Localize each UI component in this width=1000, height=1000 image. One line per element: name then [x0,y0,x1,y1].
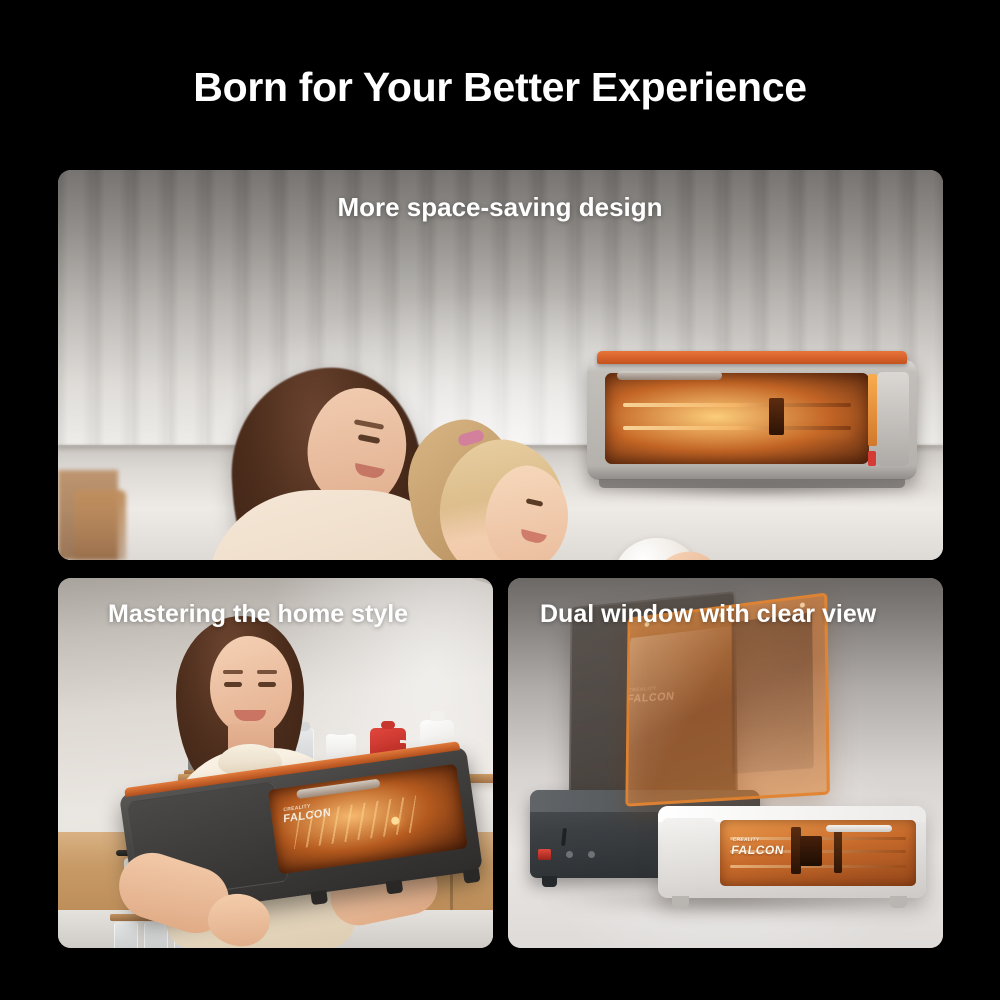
marketing-page: Born for Your Better Experience [0,0,1000,1000]
brand-prefix: CREALITY [732,835,786,845]
wooden-chair [74,490,126,560]
feature-panel-dual-window[interactable]: CREALITY FALCON [508,578,943,948]
kitchen-scene-baking [58,170,943,560]
kitchen-scene-carrying: CREALITY FALCON [58,578,493,948]
machine-handle [826,825,893,832]
machine-side-panel [877,372,909,466]
machine-side-panel [662,818,716,888]
lid-reflection [732,613,814,774]
caption-space-saving: More space-saving design [0,192,1000,223]
woman-eyebrow [223,670,243,674]
feature-panel-home-style[interactable]: CREALITY FALCON [58,578,493,948]
machine-foot [386,879,404,894]
laser-engraver-white [587,360,917,480]
drinking-glass [114,922,138,948]
feature-panel-space-saving[interactable] [58,170,943,560]
machine-foot [310,890,328,905]
gantry-post [791,827,801,875]
machine-knob [588,851,595,858]
laser-engraver-white: CREALITY FALCON [658,806,926,898]
machine-amber-window: CREALITY FALCON [720,820,916,886]
machine-knob [566,851,573,858]
laser-head [769,398,784,434]
gantry-rail-lower [623,426,850,430]
machine-amber-edge [868,374,877,446]
machine-vent-slot [561,828,567,846]
power-button [868,451,876,466]
page-title: Born for Your Better Experience [0,62,1000,112]
machine-foot [890,896,907,908]
woman-eyebrow [257,670,277,674]
woman-eye [224,682,242,687]
machine-body: CREALITY FALCON [658,806,926,898]
machine-lid-strip [597,351,907,364]
laser-head [800,836,822,866]
caption-dual-window: Dual window with clear view [540,600,876,629]
gantry-post [834,828,842,873]
woman-eye [258,682,276,687]
machine-foot [463,869,481,884]
studio-scene-products: CREALITY FALCON [508,578,943,948]
power-button [538,849,551,860]
caption-home-style: Mastering the home style [108,600,408,629]
machine-foot [542,876,557,887]
machine-amber-window [605,373,869,464]
woman-face [210,636,292,736]
machine-body [587,360,917,480]
lid-sheen [625,625,736,805]
machine-foot [672,896,689,908]
machine-feet [599,479,905,488]
drinking-glass [144,922,168,948]
brand-logo: CREALITY FALCON [730,835,786,855]
machine-handle [617,371,723,380]
gantry-rail-upper [623,403,850,407]
